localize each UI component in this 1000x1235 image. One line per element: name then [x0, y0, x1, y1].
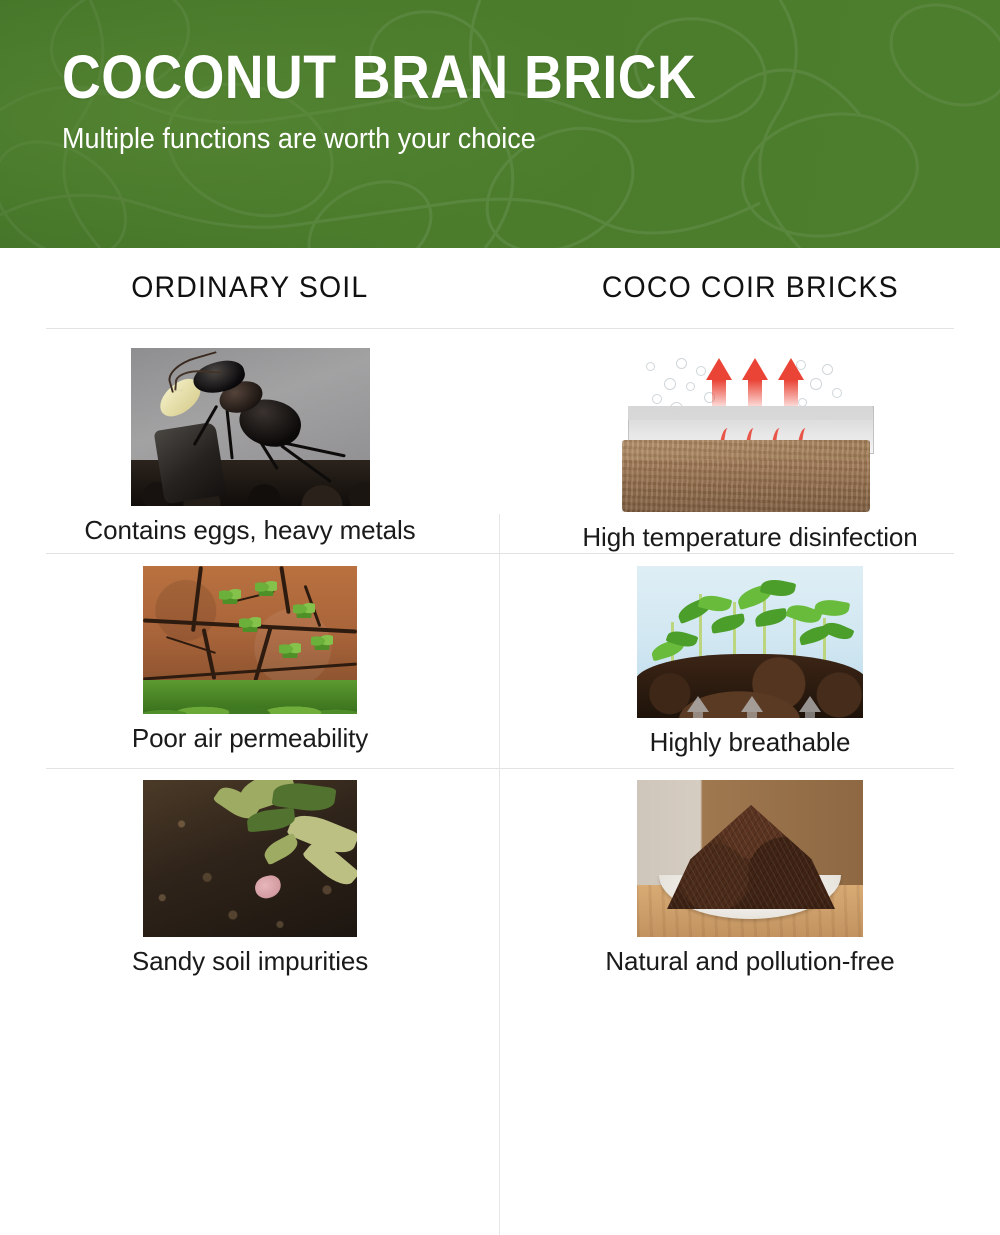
- cell-caption: Natural and pollution-free: [605, 946, 894, 977]
- airflow-arrow-up-icon: [799, 696, 821, 712]
- cell-caption: Contains eggs, heavy metals: [84, 515, 415, 546]
- weed-sprout: [255, 578, 277, 596]
- steam-bubble: [686, 382, 695, 391]
- weed-sprout: [311, 632, 333, 650]
- weed-sprout: [293, 600, 315, 618]
- seedling-leaf: [754, 608, 788, 627]
- glass-chamber-lid: [628, 406, 872, 420]
- coir-brick-front-face: [622, 460, 870, 512]
- cell-caption: Sandy soil impurities: [132, 946, 368, 977]
- coir-brick-high-temperature-steam-illustration: [600, 348, 900, 513]
- weed-sprout: [279, 640, 301, 658]
- steam-bubble: [664, 378, 676, 390]
- seedling-leaf: [710, 613, 746, 634]
- column-header-coco-coir-bricks: COCO COIR BRICKS: [500, 248, 1000, 328]
- column-header-label: COCO COIR BRICKS: [602, 271, 899, 305]
- cracked-dry-soil-photo: [143, 566, 357, 714]
- brick-texture: [622, 460, 870, 512]
- ant-carrying-egg-on-soil-photo: [131, 348, 370, 506]
- comparison-grid: Contains eggs, heavy metals: [0, 328, 1000, 985]
- heat-arrow-up-icon: [778, 358, 804, 380]
- steam-bubble: [646, 362, 655, 371]
- cell-caption: Highly breathable: [650, 727, 851, 758]
- cell-coco-coir-3: Natural and pollution-free: [500, 768, 1000, 985]
- airflow-arrow-up-icon: [741, 696, 763, 712]
- ant-leg: [225, 409, 233, 459]
- steam-bubble: [832, 388, 842, 398]
- steam-bubble: [676, 358, 687, 369]
- cell-ordinary-soil-1: Contains eggs, heavy metals: [0, 328, 500, 553]
- heat-arrow-up-icon: [742, 358, 768, 380]
- cell-caption: Poor air permeability: [132, 723, 368, 754]
- weed-sprout: [239, 614, 261, 632]
- cell-coco-coir-2: Highly breathable: [500, 553, 1000, 768]
- cell-ordinary-soil-3: Sandy soil impurities: [0, 768, 500, 985]
- weed-sprout: [219, 586, 241, 604]
- airflow-arrow-up-icon: [687, 696, 709, 712]
- banner-text-block: COCONUT BRAN BRICK Multiple functions ar…: [62, 46, 783, 156]
- steam-bubble: [810, 378, 822, 390]
- column-header-label: ORDINARY SOIL: [131, 271, 368, 305]
- coir-fiber-mound-in-white-dish-photo: [637, 780, 863, 937]
- table-row: Sandy soil impurities Natural and pollut…: [0, 768, 1000, 985]
- cell-caption: High temperature disinfection: [582, 522, 917, 553]
- steam-bubble: [822, 364, 833, 375]
- cell-coco-coir-1: High temperature disinfection: [500, 328, 1000, 553]
- fiber-texture: [667, 805, 835, 909]
- header-banner: COCONUT BRAN BRICK Multiple functions ar…: [0, 0, 1000, 248]
- column-header-row: ORDINARY SOIL COCO COIR BRICKS: [0, 248, 1000, 328]
- comparison-table: ORDINARY SOIL COCO COIR BRICKS: [0, 248, 1000, 987]
- steam-bubble: [696, 366, 706, 376]
- dark-rock: [153, 422, 226, 505]
- grass-strip: [143, 680, 357, 714]
- seedling-leaf: [821, 619, 854, 644]
- table-row: Contains eggs, heavy metals: [0, 328, 1000, 553]
- page-subtitle: Multiple functions are worth your choice: [62, 122, 732, 156]
- table-row: Poor air permeability: [0, 553, 1000, 768]
- steam-bubble: [652, 394, 662, 404]
- seedlings-growing-in-coir-photo: [637, 566, 863, 718]
- page-title: COCONUT BRAN BRICK: [62, 46, 696, 108]
- sandy-soil-with-debris-photo: [143, 780, 357, 937]
- coir-fiber-pile: [667, 805, 835, 909]
- heat-arrow-up-icon: [706, 358, 732, 380]
- cell-ordinary-soil-2: Poor air permeability: [0, 553, 500, 768]
- column-header-ordinary-soil: ORDINARY SOIL: [0, 248, 500, 328]
